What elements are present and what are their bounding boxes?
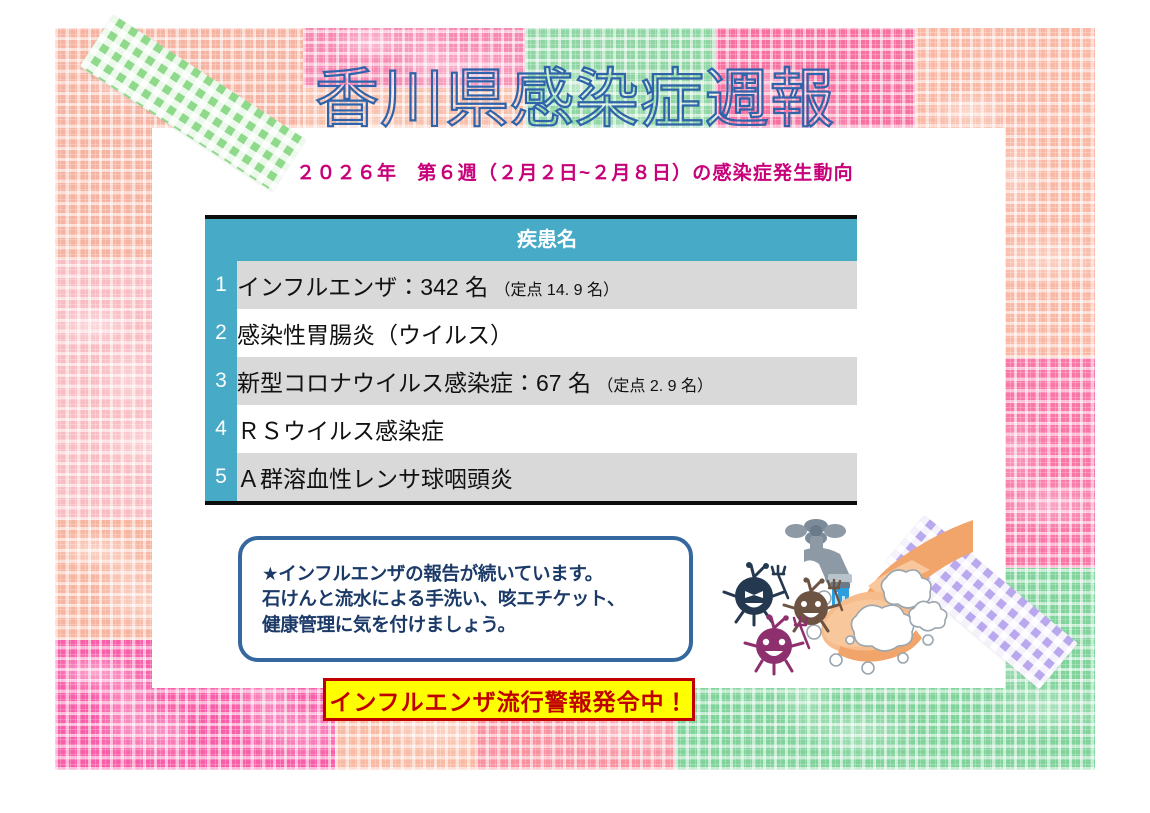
disease-name-text: ＲＳウイルス感染症 <box>237 418 444 444</box>
germ-navy <box>724 562 788 625</box>
table-cell-disease-name: Ａ群溶血性レンサ球咽頭炎 <box>237 453 857 501</box>
table-row: 4ＲＳウイルス感染症 <box>205 405 857 453</box>
advice-message-box: ★インフルエンザの報告が続いています。 石けんと流水による手洗い、咳エチケット、… <box>238 536 693 662</box>
table-row: 3新型コロナウイルス感染症：67 名 （定点 2. 9 名） <box>205 357 857 405</box>
table-cell-disease-name: ＲＳウイルス感染症 <box>237 405 857 453</box>
table-cell-disease-name: 感染性胃腸炎（ウイルス） <box>237 309 857 357</box>
table-header-rank <box>205 219 237 261</box>
influenza-alert-text: インフルエンザ流行警報発令中！ <box>329 683 688 717</box>
disease-name-text: 感染性胃腸炎（ウイルス） <box>237 322 513 348</box>
page-title: 香川県感染症週報 <box>0 66 1150 133</box>
advice-message-text: ★インフルエンザの報告が続いています。 石けんと流水による手洗い、咳エチケット、… <box>242 561 625 638</box>
table-header-disease-name: 疾患名 <box>237 219 857 261</box>
faucet-icon <box>785 519 852 589</box>
table-cell-rank: 3 <box>205 357 237 405</box>
page-subtitle: ２０２６年 第６週（２月２日~２月８日）の感染症発生動向 <box>0 158 1150 185</box>
table-cell-disease-name: インフルエンザ：342 名 （定点 14. 9 名） <box>237 261 857 309</box>
table-cell-rank: 1 <box>205 261 237 309</box>
handwashing-illustration <box>718 512 973 690</box>
table-row: 1インフルエンザ：342 名 （定点 14. 9 名） <box>205 261 857 309</box>
table-cell-rank: 2 <box>205 309 237 357</box>
disease-ranking-table: 疾患名 1インフルエンザ：342 名 （定点 14. 9 名）2感染性胃腸炎（ウ… <box>205 215 857 505</box>
table-cell-rank: 5 <box>205 453 237 501</box>
table-row: 2感染性胃腸炎（ウイルス） <box>205 309 857 357</box>
table-cell-rank: 4 <box>205 405 237 453</box>
table-cell-disease-name: 新型コロナウイルス感染症：67 名 （定点 2. 9 名） <box>237 357 857 405</box>
influenza-alert-banner: インフルエンザ流行警報発令中！ <box>323 678 695 721</box>
disease-sentinel-note: （定点 14. 9 名） <box>494 282 618 299</box>
disease-name-text: インフルエンザ：342 名 <box>237 274 488 300</box>
disease-sentinel-note: （定点 2. 9 名） <box>597 378 713 395</box>
disease-name-text: Ａ群溶血性レンサ球咽頭炎 <box>237 466 513 492</box>
poster-root: 香川県感染症週報 ２０２６年 第６週（２月２日~２月８日）の感染症発生動向 疾患… <box>0 0 1150 813</box>
disease-name-text: 新型コロナウイルス感染症：67 名 <box>237 370 591 396</box>
table-row: 5Ａ群溶血性レンサ球咽頭炎 <box>205 453 857 501</box>
table-body: 1インフルエンザ：342 名 （定点 14. 9 名）2感染性胃腸炎（ウイルス）… <box>205 261 857 501</box>
table-header-row: 疾患名 <box>205 219 857 261</box>
